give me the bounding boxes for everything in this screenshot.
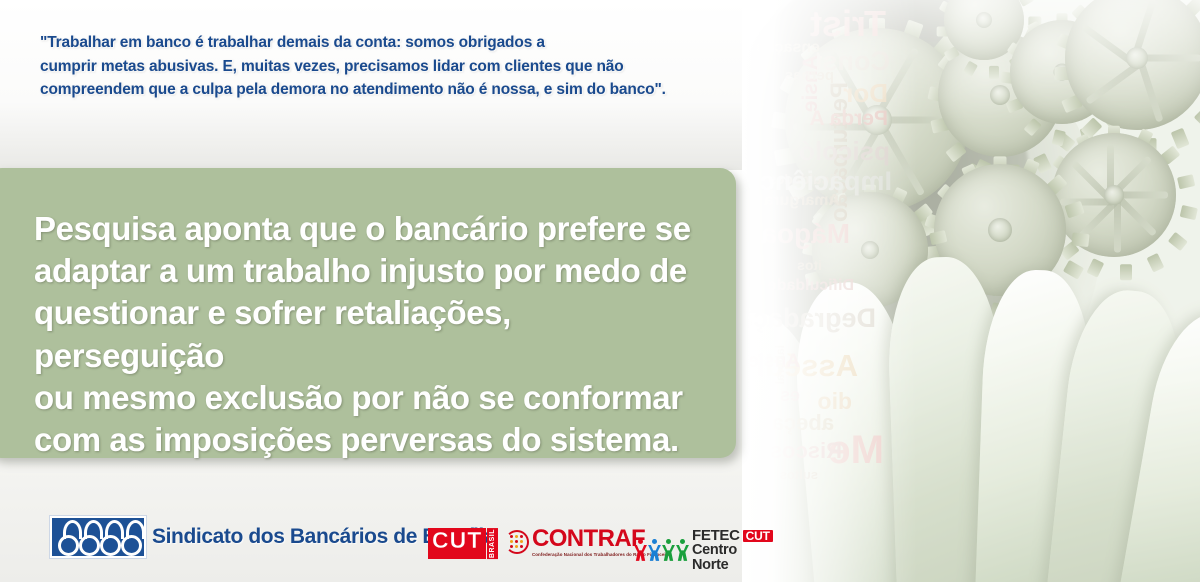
fetec-region: Centro Norte (692, 543, 773, 573)
quote-line-3: compreendem que a culpa pela demora no a… (40, 78, 740, 102)
word-cloud-term: Perda A (809, 108, 888, 129)
statement-line-3: questionar e sofrer retaliações, persegu… (34, 292, 704, 376)
word-cloud-term: Riscos (770, 440, 842, 462)
quote-line-2: cumprir metas abusivas. E, muitas vezes,… (40, 55, 740, 79)
word-cloud-term: sultos (780, 468, 818, 481)
cut-wordmark: CUT (428, 528, 486, 559)
four-raised-arm-figures-icon (50, 516, 146, 558)
person-figure-icon (662, 539, 675, 561)
word-cloud-term: psicoló (799, 138, 890, 164)
dot-grid (510, 535, 523, 548)
figure-icon (78, 520, 98, 554)
word-cloud-term: itos (797, 258, 822, 272)
figure-icon (99, 520, 119, 554)
people-figures-icon (634, 539, 689, 561)
statement-text: Pesquisa aponta que o bancário prefere s… (34, 208, 704, 461)
word-cloud-term: Amargura (764, 193, 840, 209)
fetec-text-block: FETEC CUT Centro Norte (692, 528, 773, 573)
logo-fetec[interactable]: FETEC CUT Centro Norte (634, 528, 773, 573)
fetec-top-row: FETEC CUT (692, 528, 773, 543)
photo-collage: TristConstensaçãoAnsieDorpernasPerturbaç… (742, 0, 1200, 582)
quote-line-1: "Trabalhar em banco é trabalhar demais d… (40, 31, 740, 55)
word-cloud-term: es (780, 386, 800, 404)
headline-quote: "Trabalhar em banco é trabalhar demais d… (40, 31, 740, 102)
statement-line-5: com as imposições perversas do sistema. (34, 419, 704, 461)
figure-icon (120, 520, 140, 554)
logo-cut[interactable]: CUT BRASIL (428, 528, 498, 559)
word-cloud-term: Dificuldade (768, 278, 854, 294)
figure-icon (57, 520, 77, 554)
person-figure-icon (648, 539, 661, 561)
word-cloud-term: pernas (785, 68, 834, 83)
word-cloud-term: abeça (772, 412, 834, 434)
word-cloud-term: Ansiedade (742, 352, 800, 371)
word-cloud-term: Mágoa (761, 220, 850, 248)
fetec-name: FETEC (692, 528, 740, 543)
person-figure-icon (634, 539, 647, 561)
logo-strip: Sindicato dos Bancários de Brasília CUT … (0, 500, 760, 582)
word-cloud-term: Degradação (742, 305, 876, 332)
banner-root: TristConstensaçãoAnsieDorpernasPerturbaç… (0, 0, 1200, 582)
statement-line-1: Pesquisa aponta que o bancário prefere s… (34, 208, 704, 250)
word-cloud-term: Impaciênci (752, 168, 892, 195)
word-cloud-term: ensação (756, 40, 820, 56)
word-cloud-term: laboral (774, 345, 786, 384)
person-figure-icon (676, 539, 689, 561)
statement-box: Pesquisa aponta que o bancário prefere s… (0, 168, 736, 458)
word-cloud-overlay: TristConstensaçãoAnsieDorpernasPerturbaç… (742, 0, 892, 582)
statement-line-2: adaptar a um trabalho injusto por medo d… (34, 250, 704, 292)
fetec-cut-badge: CUT (743, 530, 773, 542)
word-cloud-term: Trist (810, 6, 886, 42)
cut-brasil-label: BRASIL (487, 528, 498, 559)
statement-line-4: ou mesmo exclusão por não se conformar (34, 377, 704, 419)
dotted-circle-icon (505, 530, 529, 554)
